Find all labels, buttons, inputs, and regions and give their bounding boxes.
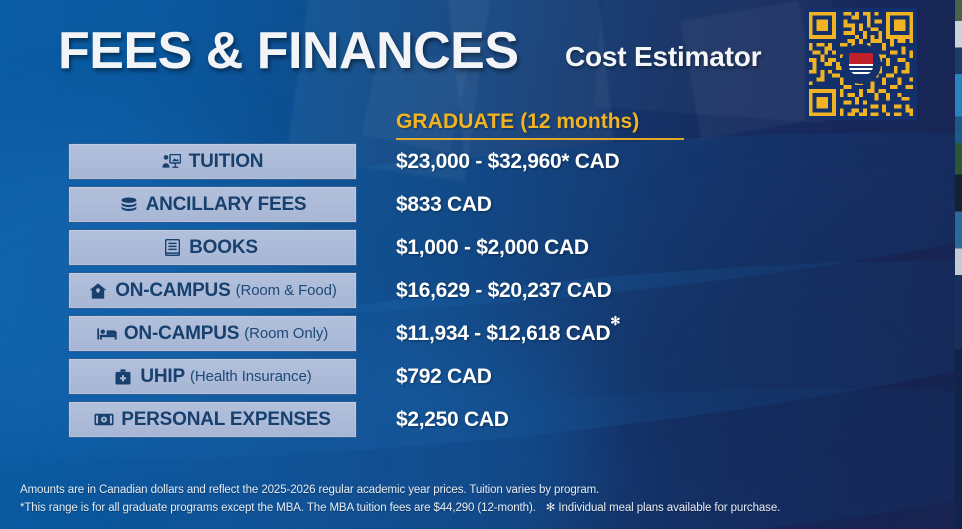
fee-value: $2,250 CAD [396,408,509,432]
banknote-icon [94,411,114,429]
value-row: $16,629 - $20,237 CAD [396,272,736,309]
fee-label: PERSONAL EXPENSES [121,410,331,429]
fee-label: ON-CAMPUS [124,324,239,343]
fee-label: BOOKS [189,238,258,257]
column-header-main: GRADUATE [396,110,514,133]
value-row: $833 CAD [396,186,736,223]
footnote-line-2: *This range is for all graduate programs… [20,500,940,518]
right-edge-photo-strip [955,0,962,529]
fees-and-finances-poster: FEES & FINANCES Cost Estimator [0,0,962,529]
column-header-detail: (12 months) [520,110,639,133]
page-subtitle: Cost Estimator [565,41,761,73]
coins-stack-icon [119,196,139,214]
fee-value: $11,934 - $12,618 CAD✻ [396,321,620,346]
fee-value: $16,629 - $20,237 CAD [396,279,612,303]
table-row[interactable]: ANCILLARY FEES [68,186,357,223]
page-title: FEES & FINANCES [58,21,519,81]
fee-value-footnote-marker: ✻ [610,314,620,328]
fee-label: ON-CAMPUS [115,281,230,300]
fee-value: $833 CAD [396,193,492,217]
column-header-text: GRADUATE (12 months) [396,110,686,134]
fee-label-column: TUITION ANCILLARY FEES BOOKS ON-CAMPUS (… [68,143,357,444]
value-row: $1,000 - $2,000 CAD [396,229,736,266]
qr-code[interactable] [805,8,917,120]
value-row: $23,000 - $32,960* CAD [396,143,736,180]
table-row[interactable]: TUITION [68,143,357,180]
fee-label: UHIP [140,367,185,386]
fee-label: ANCILLARY FEES [146,195,307,214]
bed-icon [97,325,117,343]
book-icon [162,239,182,257]
medical-bag-icon [113,368,133,386]
footnote-meal-plan: ✻ Individual meal plans available for pu… [546,502,780,514]
value-row: $11,934 - $12,618 CAD✻ [396,315,736,352]
fee-value-text: $11,934 - $12,618 CAD [396,322,610,345]
fee-value: $23,000 - $32,960* CAD [396,150,619,174]
crest-shield [849,53,873,75]
fee-label: TUITION [189,152,264,171]
university-crest-logo [843,46,879,82]
fee-value: $1,000 - $2,000 CAD [396,236,589,260]
fee-value: $792 CAD [396,365,492,389]
table-row[interactable]: ON-CAMPUS (Room & Food) [68,272,357,309]
fee-label-sub: (Health Insurance) [190,368,312,385]
footnotes: Amounts are in Canadian dollars and refl… [20,482,940,518]
column-header-graduate: GRADUATE (12 months) [396,110,686,140]
table-row[interactable]: UHIP (Health Insurance) [68,358,357,395]
fee-label-sub: (Room Only) [244,325,328,342]
table-row[interactable]: PERSONAL EXPENSES [68,401,357,438]
fee-value-column: $23,000 - $32,960* CAD $833 CAD $1,000 -… [396,143,736,444]
tuition-presentation-icon [162,153,182,171]
value-row: $2,250 CAD [396,401,736,438]
column-header-rule [396,138,684,140]
home-icon [88,282,108,300]
footnote-line-1: Amounts are in Canadian dollars and refl… [20,482,940,500]
footnote-mba: *This range is for all graduate programs… [20,502,536,514]
fee-label-sub: (Room & Food) [236,282,337,299]
value-row: $792 CAD [396,358,736,395]
table-row[interactable]: BOOKS [68,229,357,266]
crest-waves [849,64,873,75]
table-row[interactable]: ON-CAMPUS (Room Only) [68,315,357,352]
